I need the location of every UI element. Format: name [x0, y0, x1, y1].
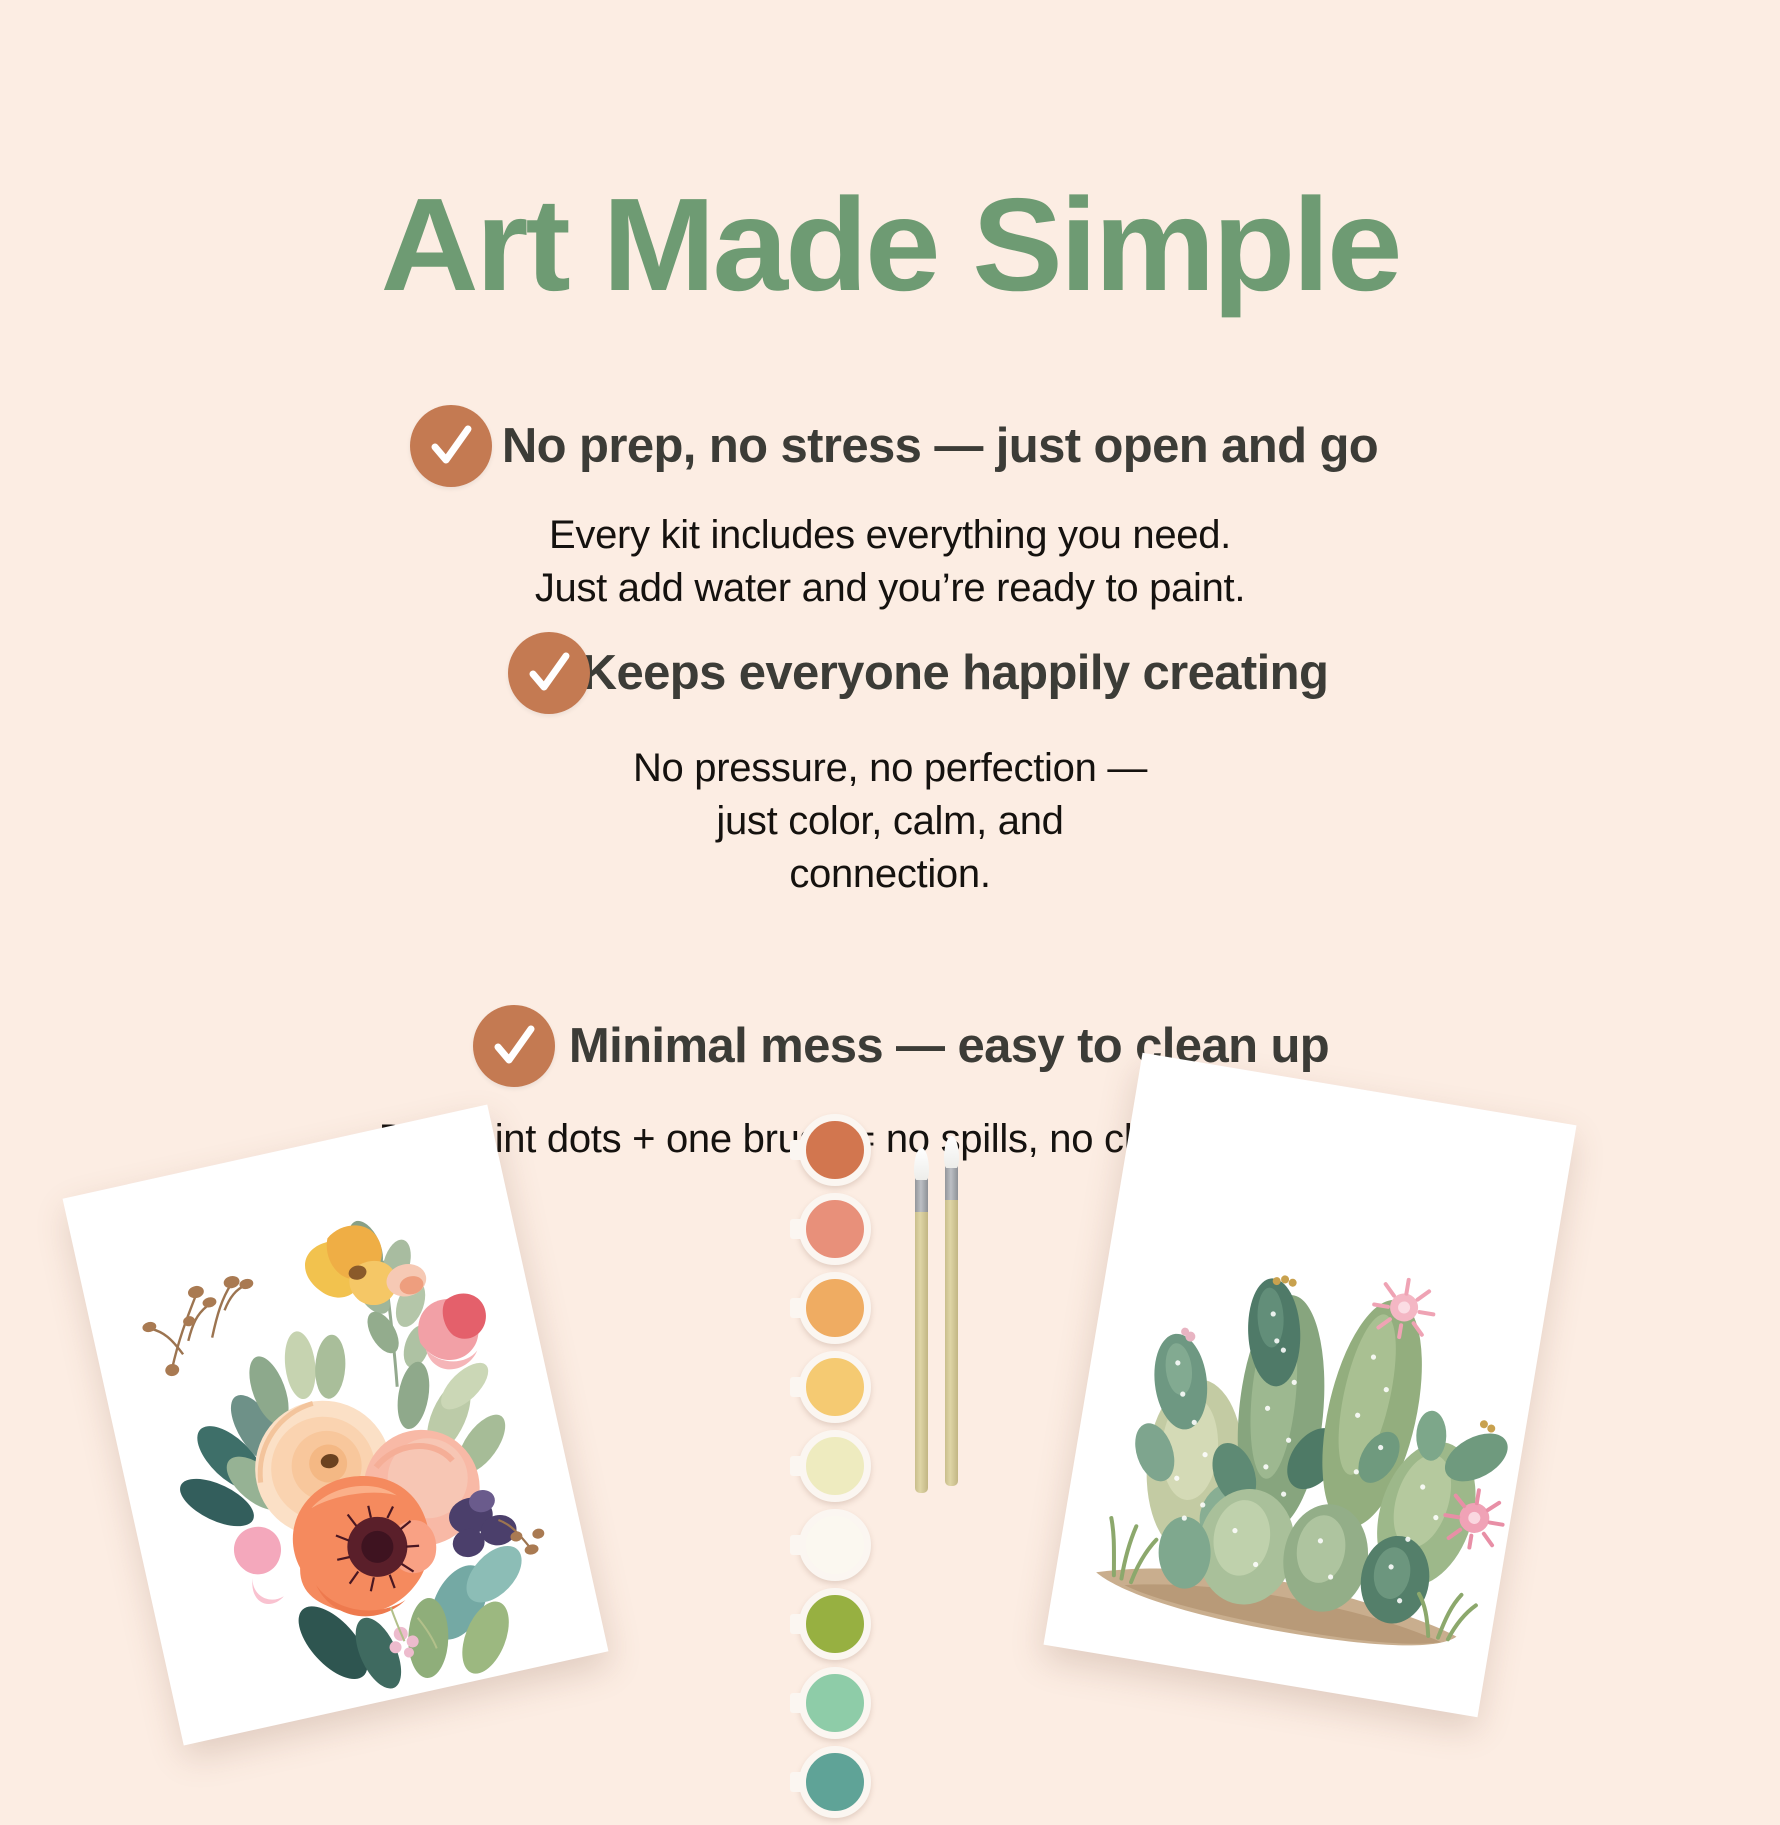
feature-body-1: Every kit includes everything you need. …: [0, 509, 1780, 615]
paint-dot: [799, 1272, 871, 1344]
paint-brush: [915, 1148, 928, 1493]
product-photo-stage: [0, 1200, 1780, 1780]
paint-dot: [799, 1351, 871, 1423]
promo-graphic: Art Made Simple No prep, no stress — jus…: [0, 0, 1780, 1780]
paint-dot-strip: [795, 1114, 875, 1825]
feature-body-line: connection.: [0, 848, 1780, 901]
paint-dot: [799, 1193, 871, 1265]
feature-body-line: Just add water and you’re ready to paint…: [0, 562, 1780, 615]
paint-dot: [799, 1667, 871, 1739]
feature-heading-row-1: No prep, no stress — just open and go: [0, 405, 1780, 487]
watercolor-floral-painting-card: [63, 1105, 609, 1746]
feature-body-line: Every kit includes everything you need.: [0, 509, 1780, 562]
paint-brush: [945, 1136, 958, 1486]
feature-body-line: No pressure, no perfection —: [0, 742, 1780, 795]
feature-block-1: No prep, no stress — just open and go Ev…: [0, 405, 1780, 615]
feature-heading-2: Keeps everyone happily creating: [582, 645, 1329, 701]
page-title: Art Made Simple: [0, 178, 1780, 313]
check-circle-icon: [473, 1005, 555, 1087]
check-circle-icon: [508, 632, 590, 714]
feature-heading-row-3: Minimal mess — easy to clean up: [0, 1005, 1780, 1087]
feature-body-line: just color, calm, and: [0, 795, 1780, 848]
paint-dot: [799, 1114, 871, 1186]
feature-heading-1: No prep, no stress — just open and go: [502, 418, 1378, 474]
feature-block-2: Keeps everyone happily creating No press…: [0, 632, 1780, 900]
feature-heading-row-2: Keeps everyone happily creating: [0, 632, 1780, 714]
check-circle-icon: [410, 405, 492, 487]
feature-body-2: No pressure, no perfection — just color,…: [0, 742, 1780, 900]
paint-dot: [799, 1430, 871, 1502]
paint-dot: [799, 1588, 871, 1660]
paint-dot: [799, 1746, 871, 1818]
paint-dot: [799, 1509, 871, 1581]
